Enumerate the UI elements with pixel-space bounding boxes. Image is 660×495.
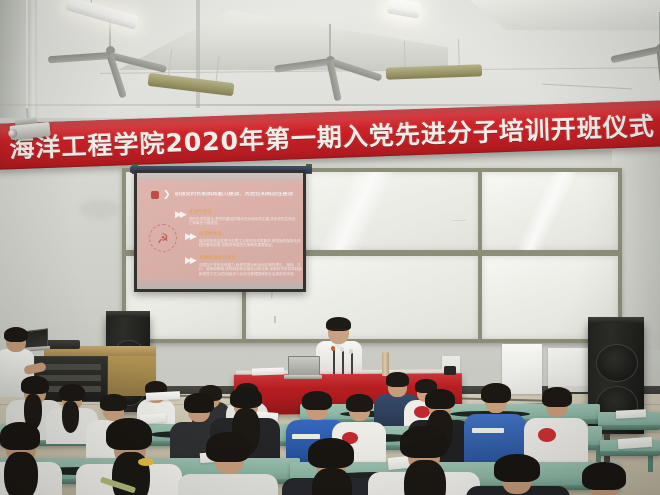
person-hair	[346, 394, 373, 412]
desk-edge	[600, 451, 660, 456]
person-hair	[230, 387, 262, 408]
laptop-base	[284, 375, 322, 379]
person-torso	[178, 474, 278, 495]
audience-person	[54, 388, 90, 432]
double-chevron-icon: ▶▶	[185, 256, 195, 277]
mic-stem	[342, 351, 344, 374]
person-hair	[425, 389, 455, 409]
person-hair	[400, 426, 448, 458]
double-chevron-icon: ▶▶	[175, 210, 185, 226]
slide-bullet-heading: 长期执政能力建设	[199, 256, 303, 261]
slide-bullet-body: 中国共产党的执政能力,就是党提出和运用正确的理论、路线、方针、政策和策略,领导制…	[199, 263, 303, 278]
audience-person	[340, 398, 378, 446]
wall-smudge	[80, 200, 120, 218]
audience-person	[388, 436, 458, 495]
slide-title-row: ❯ 加强党的长期执政能力建设、先进性和纯洁性建设	[151, 190, 295, 199]
audience-person	[300, 446, 360, 495]
person-hair	[386, 372, 409, 387]
slide-bullet: ▶▶ 先进性建设 党的先进性建设,是党的建设的根本任务和永恒主题,关系党的生死存…	[175, 210, 297, 226]
person-hair	[21, 376, 49, 394]
fan-blade	[274, 58, 330, 73]
ceiling-fan	[270, 24, 390, 84]
audience-person	[474, 388, 516, 444]
desk-edge	[598, 425, 660, 430]
microphone	[348, 348, 354, 374]
screen-surface: ❯ 加强党的长期执政能力建设、先进性和纯洁性建设 ☭ ▶▶ 先进性建设 党的先进…	[137, 173, 303, 289]
slide-bullet: ▶▶ 长期执政能力建设 中国共产党的执政能力,就是党提出和运用正确的理论、路线、…	[185, 256, 303, 277]
fan-blade	[48, 52, 110, 63]
person-hair	[4, 327, 28, 342]
speaker-woofer	[596, 344, 638, 382]
classroom-photo-scene: 海洋工程学院2020年第一期入党先进分子培训开班仪式 ❯	[0, 0, 660, 495]
person-ponytail	[4, 452, 38, 495]
ceiling-fan	[50, 18, 170, 78]
person-hair	[206, 432, 250, 462]
whiteboard-mark	[274, 316, 276, 323]
person-ponytail	[312, 468, 352, 495]
person-hair	[494, 454, 540, 482]
wall-pillar-left	[28, 0, 37, 118]
person-ponytail	[62, 401, 79, 433]
shirt-text	[292, 434, 320, 439]
slide-bullet-body: 保持党的纯洁性是马克思主义政党的本质要求,是党始终保持先进性的基本前提,也是党完…	[199, 239, 303, 249]
shirt-text	[472, 428, 504, 433]
papers-on-table	[252, 367, 284, 375]
person-hair	[106, 418, 152, 450]
audience-person	[484, 462, 550, 495]
party-badge-icon	[151, 191, 159, 199]
audience-person	[196, 440, 258, 495]
hair-tie	[138, 458, 154, 466]
shirt-graphic	[538, 428, 556, 442]
audience-person	[0, 430, 48, 495]
mic-head	[331, 346, 335, 351]
person-ponytail	[404, 460, 446, 495]
person-hair	[100, 394, 127, 411]
party-emblem-icon: ☭	[149, 224, 177, 252]
slide-bullet: ▶▶ 纯洁性建设 保持党的纯洁性是马克思主义政党的本质要求,是党始终保持先进性的…	[185, 232, 303, 248]
slide-bullet-heading: 先进性建设	[189, 210, 297, 215]
person-hair	[302, 391, 332, 410]
ceiling-fan	[600, 12, 660, 72]
mic-head	[349, 349, 353, 354]
person-hair	[542, 387, 572, 407]
person-hair	[59, 384, 85, 401]
person-hair	[582, 462, 626, 490]
slide-title: 加强党的长期执政能力建设、先进性和纯洁性建设	[175, 192, 294, 197]
person-hair	[184, 393, 214, 413]
rack-slot	[39, 364, 101, 370]
slide-bullet-heading: 纯洁性建设	[199, 232, 303, 237]
double-chevron-icon: ▶▶	[185, 232, 195, 248]
speaker-top	[106, 311, 150, 317]
person-hair	[0, 422, 40, 450]
microphone	[330, 344, 336, 374]
person-hair	[308, 438, 354, 468]
projector	[5, 116, 55, 145]
audience-person	[534, 392, 578, 448]
slide-bullet-body: 党的先进性建设,是党的建设的根本任务和永恒主题,关系党的生死存亡和事业兴衰成败。	[189, 217, 297, 227]
microphone	[339, 346, 345, 374]
audience-person	[574, 470, 634, 495]
water-bottle-on-table	[382, 352, 389, 376]
wall-crack	[542, 84, 632, 90]
av-cables-bundle	[46, 340, 80, 349]
mic-stem	[333, 350, 335, 374]
wall-corner-left	[0, 0, 26, 118]
projection-screen: ❯ 加强党的长期执政能力建设、先进性和纯洁性建设 ☭ ▶▶ 先进性建设 党的先进…	[134, 170, 306, 292]
mic-head	[340, 347, 344, 352]
object-on-table	[444, 366, 456, 375]
whiteboard-mark	[452, 220, 466, 221]
presenter-laptop	[286, 356, 320, 380]
audience-person	[96, 428, 162, 495]
whiteboard-panel	[482, 172, 618, 250]
speaker-top	[588, 317, 644, 323]
glasses-icon	[329, 329, 348, 333]
fan-rod	[329, 24, 331, 58]
mic-stem	[351, 353, 353, 374]
papers-on-desk	[616, 409, 646, 419]
fan-blade	[610, 46, 660, 63]
presentation-slide: ❯ 加强党的长期执政能力建设、先进性和纯洁性建设 ☭ ▶▶ 先进性建设 党的先进…	[137, 180, 303, 280]
person-hair	[481, 383, 511, 403]
chevron-right-icon: ❯	[163, 190, 171, 199]
